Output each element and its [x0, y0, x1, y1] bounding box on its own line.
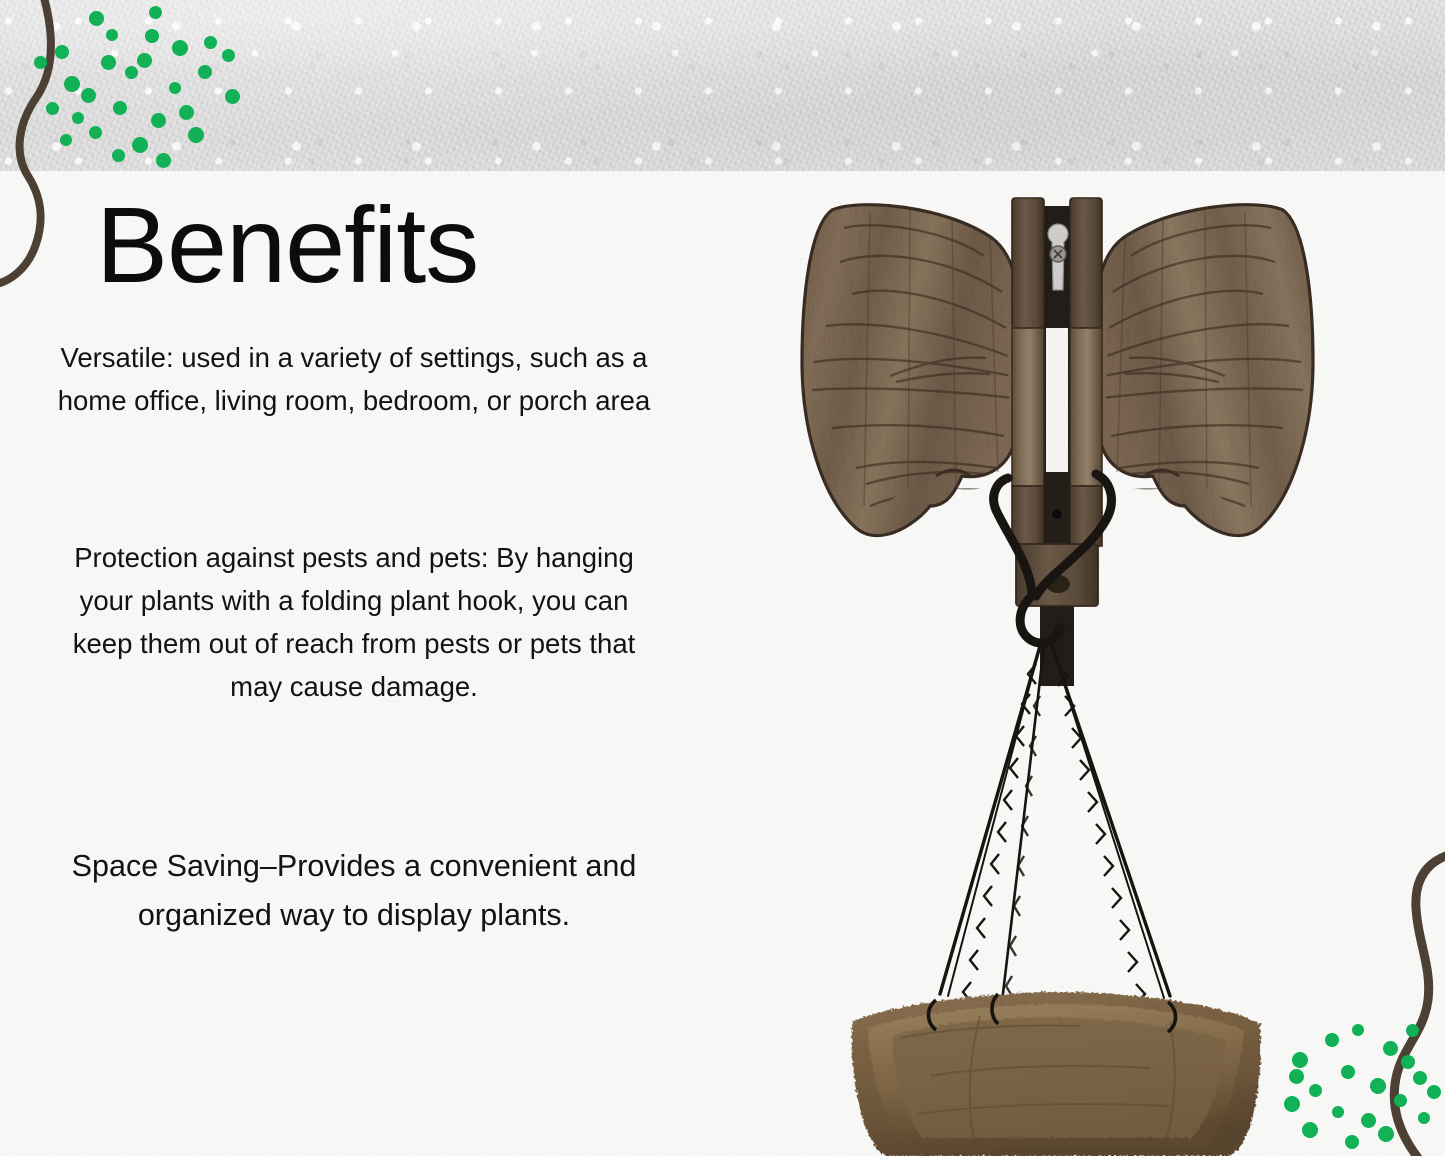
green-dot	[137, 53, 152, 68]
green-dot	[34, 56, 47, 69]
green-dot	[89, 126, 102, 139]
green-dot	[60, 134, 72, 146]
page-title: Benefits	[96, 188, 478, 301]
green-dot	[149, 6, 162, 19]
hanging-basket	[852, 992, 1261, 1156]
green-dot	[106, 29, 118, 41]
green-dot	[72, 112, 84, 124]
squiggle-line-topleft	[0, 0, 82, 304]
green-dot	[113, 101, 127, 115]
product-photo-butterfly-plant-hook	[740, 176, 1445, 1156]
butterfly-right-wing	[1095, 205, 1313, 536]
green-dot	[101, 55, 116, 70]
green-dot	[169, 82, 181, 94]
green-dot	[151, 113, 166, 128]
green-dot	[81, 88, 96, 103]
green-dot	[55, 45, 69, 59]
green-dot	[64, 76, 80, 92]
butterfly-hook-illustration	[740, 176, 1445, 1156]
green-dot	[172, 40, 188, 56]
benefit-paragraph-versatile: Versatile: used in a variety of settings…	[52, 336, 656, 422]
green-dot	[179, 105, 194, 120]
green-dot	[145, 29, 159, 43]
green-dot	[112, 149, 125, 162]
green-dot	[156, 153, 171, 168]
green-dot	[125, 66, 138, 79]
slide-root: Benefits Versatile: used in a variety of…	[0, 0, 1445, 1156]
green-dot	[132, 137, 148, 153]
green-dot	[46, 102, 59, 115]
green-dot	[222, 49, 235, 62]
benefit-paragraph-protection: Protection against pests and pets: By ha…	[52, 536, 656, 708]
benefit-paragraph-space-saving: Space Saving–Provides a convenient and o…	[34, 842, 674, 940]
butterfly-left-wing	[802, 205, 1020, 536]
green-dot	[89, 11, 104, 26]
green-dot	[188, 127, 204, 143]
hanging-chains	[940, 646, 1170, 1002]
green-dot	[198, 65, 212, 79]
green-dot	[204, 36, 217, 49]
wall-texture-band	[0, 0, 1445, 171]
green-dot	[225, 89, 240, 104]
